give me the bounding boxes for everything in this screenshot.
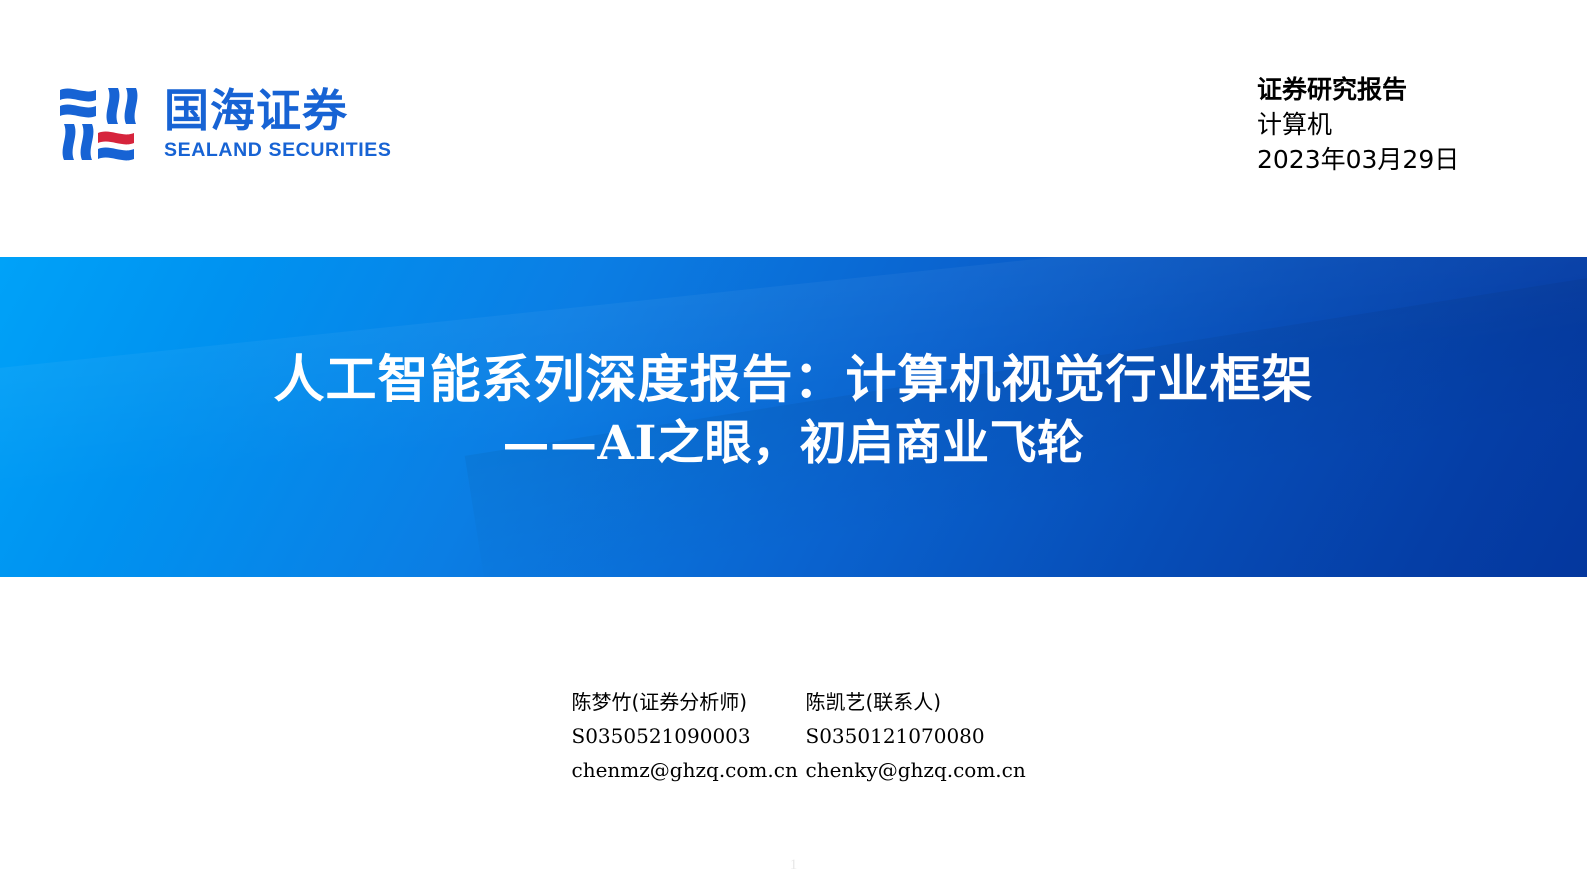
report-type-label: 证券研究报告 bbox=[1257, 72, 1517, 107]
author-name: 陈梦竹(证券分析师) bbox=[572, 686, 782, 719]
header-meta-block: 证券研究报告 计算机 2023年03月29日 bbox=[1257, 72, 1517, 177]
author-name: 陈凯艺(联系人) bbox=[806, 686, 1016, 719]
author-block: 陈梦竹(证券分析师) S0350521090003 chenmz@ghzq.co… bbox=[0, 686, 1587, 787]
title-line-subtitle: ——AI之眼，初启商业飞轮 bbox=[0, 413, 1587, 475]
page-number: 1 bbox=[0, 857, 1587, 874]
title-banner: 人工智能系列深度报告：计算机视觉行业框架 ——AI之眼，初启商业飞轮 bbox=[0, 257, 1587, 577]
page-title: 人工智能系列深度报告：计算机视觉行业框架 ——AI之眼，初启商业飞轮 bbox=[0, 349, 1587, 475]
brand-wordmark: 国海证券 SEALAND SECURITIES bbox=[164, 84, 392, 161]
title-line-primary: 人工智能系列深度报告：计算机视觉行业框架 bbox=[0, 349, 1587, 413]
brand-name-en: SEALAND SECURITIES bbox=[164, 139, 392, 161]
page-header: 国海证券 SEALAND SECURITIES 证券研究报告 计算机 2023年… bbox=[0, 0, 1587, 257]
author-email[interactable]: chenmz@ghzq.com.cn bbox=[572, 753, 782, 787]
sealand-pinwheel-logo-icon bbox=[58, 84, 150, 166]
brand-lockup: 国海证券 SEALAND SECURITIES bbox=[58, 84, 392, 166]
author-license-number: S0350121070080 bbox=[806, 719, 1016, 753]
author-license-number: S0350521090003 bbox=[572, 719, 782, 753]
author-entry: 陈梦竹(证券分析师) S0350521090003 chenmz@ghzq.co… bbox=[572, 686, 782, 787]
report-date-label: 2023年03月29日 bbox=[1257, 142, 1517, 177]
author-entry: 陈凯艺(联系人) S0350121070080 chenky@ghzq.com.… bbox=[806, 686, 1016, 787]
industry-label: 计算机 bbox=[1257, 107, 1517, 142]
author-email[interactable]: chenky@ghzq.com.cn bbox=[806, 753, 1016, 787]
brand-name-cn: 国海证券 bbox=[164, 86, 392, 136]
